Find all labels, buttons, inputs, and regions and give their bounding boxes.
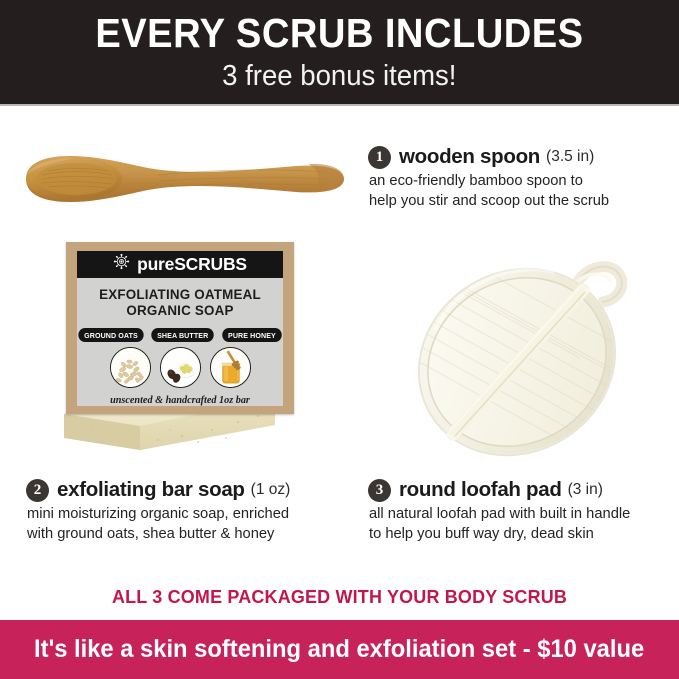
item-desc-spoon-line2: help you stir and scoop out the scrub — [369, 192, 668, 212]
item-number-badge-1: 1 — [368, 146, 391, 169]
item-name-loofah: round loofah pad — [399, 478, 562, 502]
value-banner: It's like a skin softening and exfoliati… — [0, 620, 679, 679]
item-headline-spoon: 1 wooden spoon (3.5 in) — [368, 145, 668, 169]
soap-title: EXFOLIATING OATMEAL ORGANIC SOAP — [77, 287, 283, 321]
ingredient-pill-honey: PURE HONEY — [222, 328, 281, 342]
item-headline-loofah: 3 round loofah pad (3 in) — [368, 478, 673, 502]
bamboo-spoon-photo — [8, 148, 353, 210]
packaged-note: ALL 3 COME PACKAGED WITH YOUR BODY SCRUB — [10, 586, 669, 608]
header-banner: EVERY SCRUB INCLUDES 3 free bonus items! — [0, 0, 679, 104]
item-size-spoon: (3.5 in) — [546, 148, 594, 166]
item-number-badge-3: 3 — [368, 479, 391, 502]
ingredient-pill-shea: SHEA BUTTER — [152, 328, 215, 342]
mandala-icon — [113, 253, 130, 275]
item-text-loofah: 3 round loofah pad (3 in) all natural lo… — [368, 478, 673, 545]
ingredient-pill-row: GROUND OATS SHEA BUTTER PURE HONEY — [77, 328, 283, 342]
soap-label-card: pureSCRUBS EXFOLIATING OATMEAL ORGANIC S… — [66, 242, 294, 414]
item-desc-soap-line2: with ground oats, shea butter & honey — [27, 525, 346, 545]
item-text-soap: 2 exfoliating bar soap (1 oz) mini moist… — [26, 478, 346, 545]
header-divider — [0, 104, 679, 106]
soap-brand-bar: pureSCRUBS — [77, 251, 283, 278]
value-banner-text: It's like a skin softening and exfoliati… — [34, 635, 644, 664]
item-desc-loofah-line2: to help you buff way dry, dead skin — [369, 525, 673, 545]
bar-soap-photo: pureSCRUBS EXFOLIATING OATMEAL ORGANIC S… — [52, 240, 312, 465]
soap-brand-name: pureSCRUBS — [137, 254, 247, 275]
soap-title-line1: EXFOLIATING OATMEAL — [77, 287, 283, 304]
item-headline-soap: 2 exfoliating bar soap (1 oz) — [26, 478, 346, 502]
item-size-loofah: (3 in) — [568, 481, 603, 499]
soap-title-line2: ORGANIC SOAP — [77, 303, 283, 320]
header-title: EVERY SCRUB INCLUDES — [95, 13, 583, 54]
soap-label-panel: pureSCRUBS EXFOLIATING OATMEAL ORGANIC S… — [77, 251, 283, 406]
ingredient-pill-oats: GROUND OATS — [79, 328, 144, 342]
item-number-badge-2: 2 — [26, 479, 49, 502]
item-text-spoon: 1 wooden spoon (3.5 in) an eco-friendly … — [368, 145, 668, 212]
shea-butter-circle-icon — [160, 347, 201, 388]
oats-circle-icon — [110, 347, 151, 388]
soap-tagline: unscented & handcrafted 1oz bar — [77, 395, 283, 406]
item-size-soap: (1 oz) — [251, 481, 291, 499]
item-name-soap: exfoliating bar soap — [57, 478, 245, 502]
item-name-spoon: wooden spoon — [399, 145, 540, 169]
infographic-page: EVERY SCRUB INCLUDES 3 free bonus items! — [0, 0, 679, 679]
item-desc-soap-line1: mini moisturizing organic soap, enriched — [27, 505, 346, 525]
item-desc-spoon-line1: an eco-friendly bamboo spoon to — [369, 172, 668, 192]
ingredient-circle-row — [77, 347, 283, 388]
honey-jar-circle-icon — [210, 347, 251, 388]
item-desc-loofah-line1: all natural loofah pad with built in han… — [369, 505, 673, 525]
loofah-pad-photo — [405, 238, 640, 470]
header-subtitle: 3 free bonus items! — [222, 62, 456, 91]
